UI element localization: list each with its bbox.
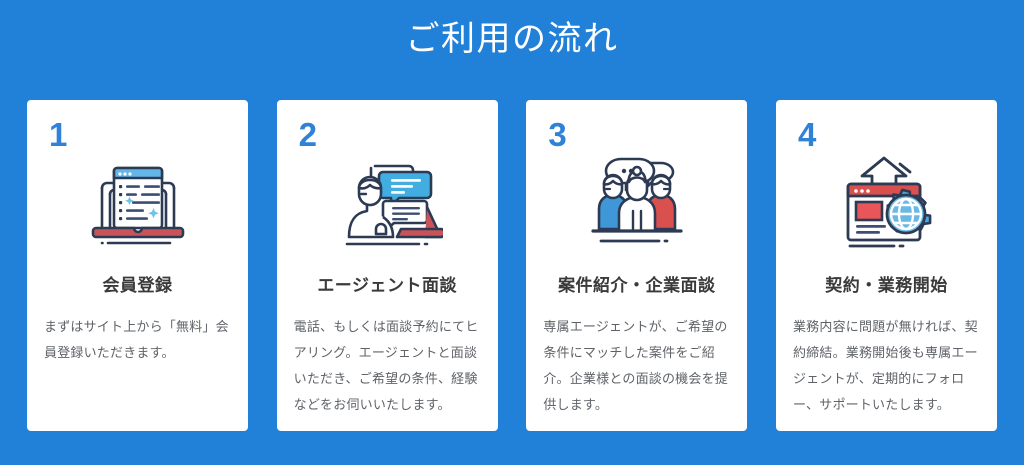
step-heading: 会員登録 <box>27 274 248 298</box>
step-description: 業務内容に問題が無ければ、契約締結。業務開始後も専属エージェントが、定期的にフォ… <box>793 314 982 418</box>
step-heading: 契約・業務開始 <box>776 274 997 298</box>
three-people-meeting-icon <box>526 142 747 262</box>
step-card-1[interactable]: 1 <box>27 100 248 431</box>
step-description: まずはサイト上から「無料」会員登録いただきます。 <box>44 314 233 366</box>
step-card-2[interactable]: 2 <box>277 100 498 431</box>
step-card-3[interactable]: 3 <box>526 100 747 431</box>
step-heading: エージェント面談 <box>277 274 498 298</box>
step-description: 電話、もしくは面談予約にてヒアリング。エージェントと面談いただき、ご希望の条件、… <box>294 314 483 418</box>
step-heading: 案件紹介・企業面談 <box>526 274 747 298</box>
page-title: ご利用の流れ <box>0 14 1024 64</box>
step-card-list: 1 <box>27 100 997 431</box>
laptop-registration-icon <box>27 142 248 262</box>
person-laptop-chat-icon <box>277 142 498 262</box>
browser-gear-globe-icon <box>776 142 997 262</box>
step-card-4[interactable]: 4 <box>776 100 997 431</box>
step-description: 専属エージェントが、ご希望の条件にマッチした案件をご紹介。企業様との面談の機会を… <box>543 314 732 418</box>
flow-section: ご利用の流れ 1 <box>0 0 1024 465</box>
